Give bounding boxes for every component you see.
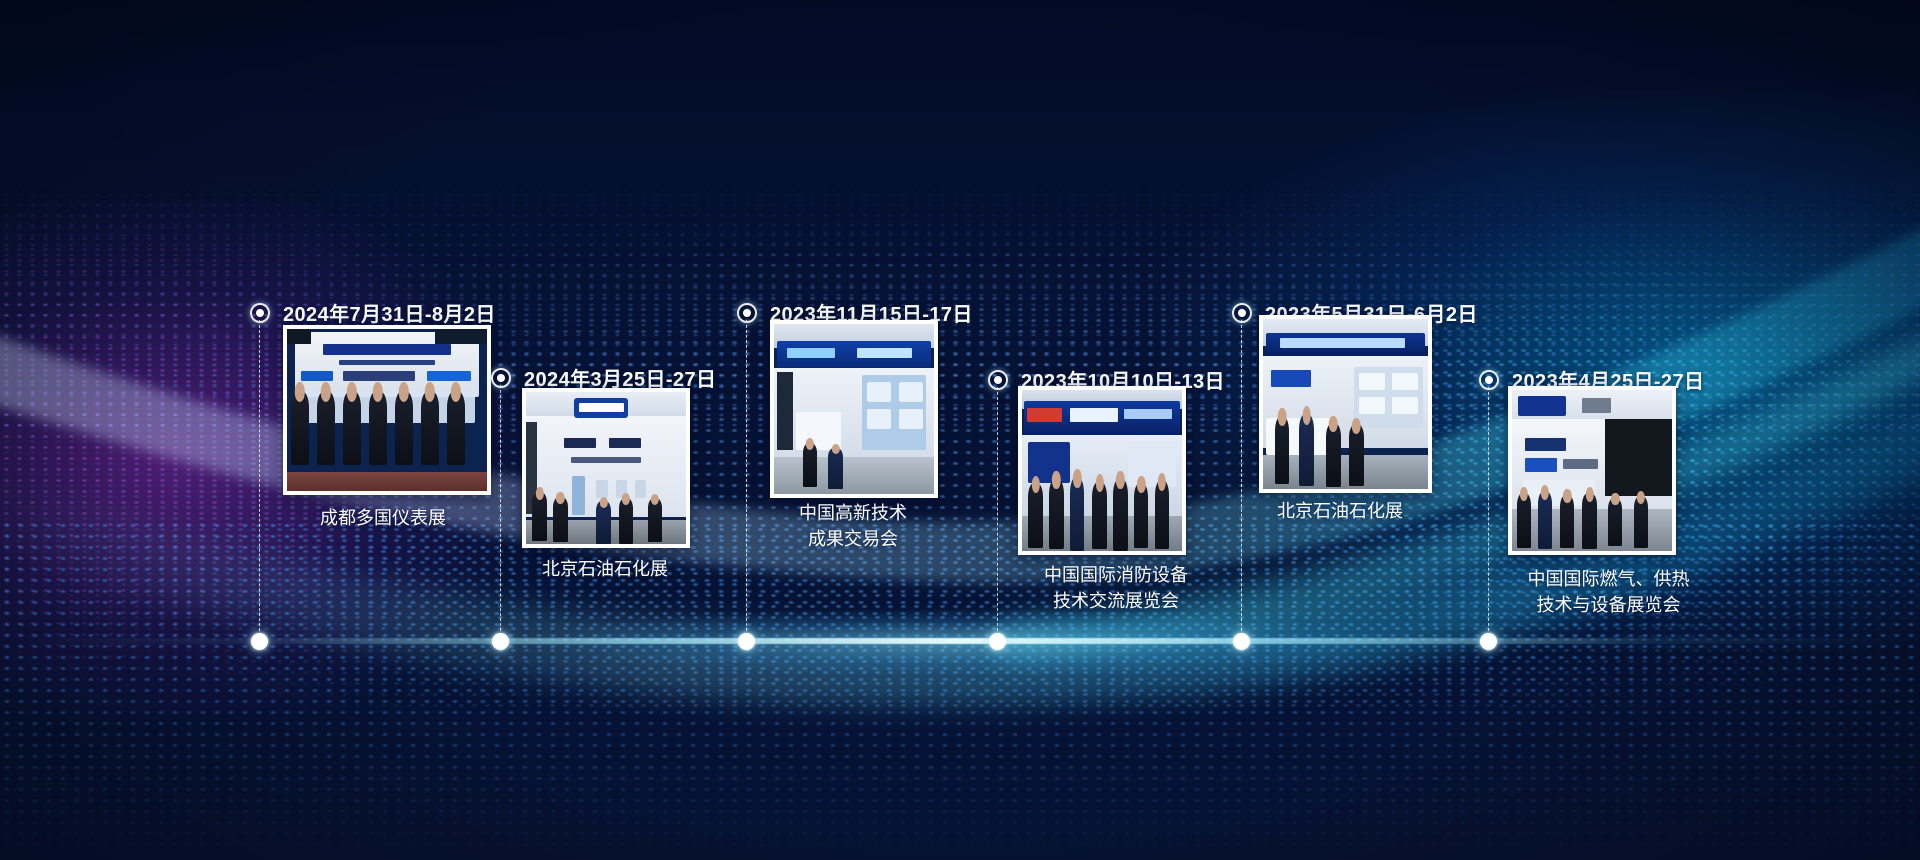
milestone-thumbnail[interactable] xyxy=(770,320,938,498)
solid-dot-icon[interactable] xyxy=(738,633,755,650)
milestone-date: 2024年7月31日-8月2日 xyxy=(283,298,496,327)
milestone-connector-line xyxy=(1488,387,1489,641)
solid-dot-icon[interactable] xyxy=(989,633,1006,650)
milestone-header[interactable]: 2024年7月31日-8月2日 xyxy=(250,298,496,327)
ring-dot-center xyxy=(994,376,1002,384)
ring-dot-icon xyxy=(737,303,757,323)
milestone-thumbnail[interactable] xyxy=(1018,386,1186,555)
milestone-connector-line xyxy=(259,320,260,641)
ring-dot-center xyxy=(1485,376,1493,384)
milestone-photo xyxy=(1512,390,1672,551)
solid-dot-icon[interactable] xyxy=(492,633,509,650)
ring-dot-icon xyxy=(988,370,1008,390)
milestone-caption: 北京石油石化展 xyxy=(520,556,690,582)
ring-dot-center xyxy=(743,309,751,317)
milestone-caption: 中国国际燃气、供热 技术与设备展览会 xyxy=(1506,566,1711,618)
milestone-thumbnail[interactable] xyxy=(522,388,690,548)
solid-dot-icon[interactable] xyxy=(1233,633,1250,650)
milestone-photo xyxy=(287,329,487,491)
timeline: 2024年7月31日-8月2日 成都多国仪表展2024年3月25日-27日 xyxy=(0,0,1920,860)
milestone-caption: 中国高新技术 成果交易会 xyxy=(768,500,938,552)
milestone-photo xyxy=(526,392,686,544)
ring-dot-center xyxy=(497,374,505,382)
ring-dot-icon xyxy=(250,303,270,323)
milestone-caption: 成都多国仪表展 xyxy=(283,505,483,531)
milestone-photo xyxy=(1022,390,1182,551)
milestone-connector-line xyxy=(1241,320,1242,641)
timeline-banner: 2024年7月31日-8月2日 成都多国仪表展2024年3月25日-27日 xyxy=(0,0,1920,860)
solid-dot-icon[interactable] xyxy=(1480,633,1497,650)
ring-dot-icon xyxy=(491,368,511,388)
ring-dot-center xyxy=(1238,309,1246,317)
milestone-photo xyxy=(774,324,934,494)
ring-dot-icon xyxy=(1232,303,1252,323)
milestone-thumbnail[interactable] xyxy=(1259,315,1432,493)
milestone-connector-line xyxy=(997,387,998,641)
milestone-photo xyxy=(1263,319,1428,489)
milestone-caption: 中国国际消防设备 技术交流展览会 xyxy=(1016,562,1216,614)
milestone-caption: 北京石油石化展 xyxy=(1250,498,1430,524)
solid-dot-icon[interactable] xyxy=(251,633,268,650)
milestone-thumbnail[interactable] xyxy=(283,325,491,495)
milestone-connector-line xyxy=(746,320,747,641)
milestone-connector-line xyxy=(500,385,501,641)
ring-dot-icon xyxy=(1479,370,1499,390)
milestone-thumbnail[interactable] xyxy=(1508,386,1676,555)
ring-dot-center xyxy=(256,309,264,317)
